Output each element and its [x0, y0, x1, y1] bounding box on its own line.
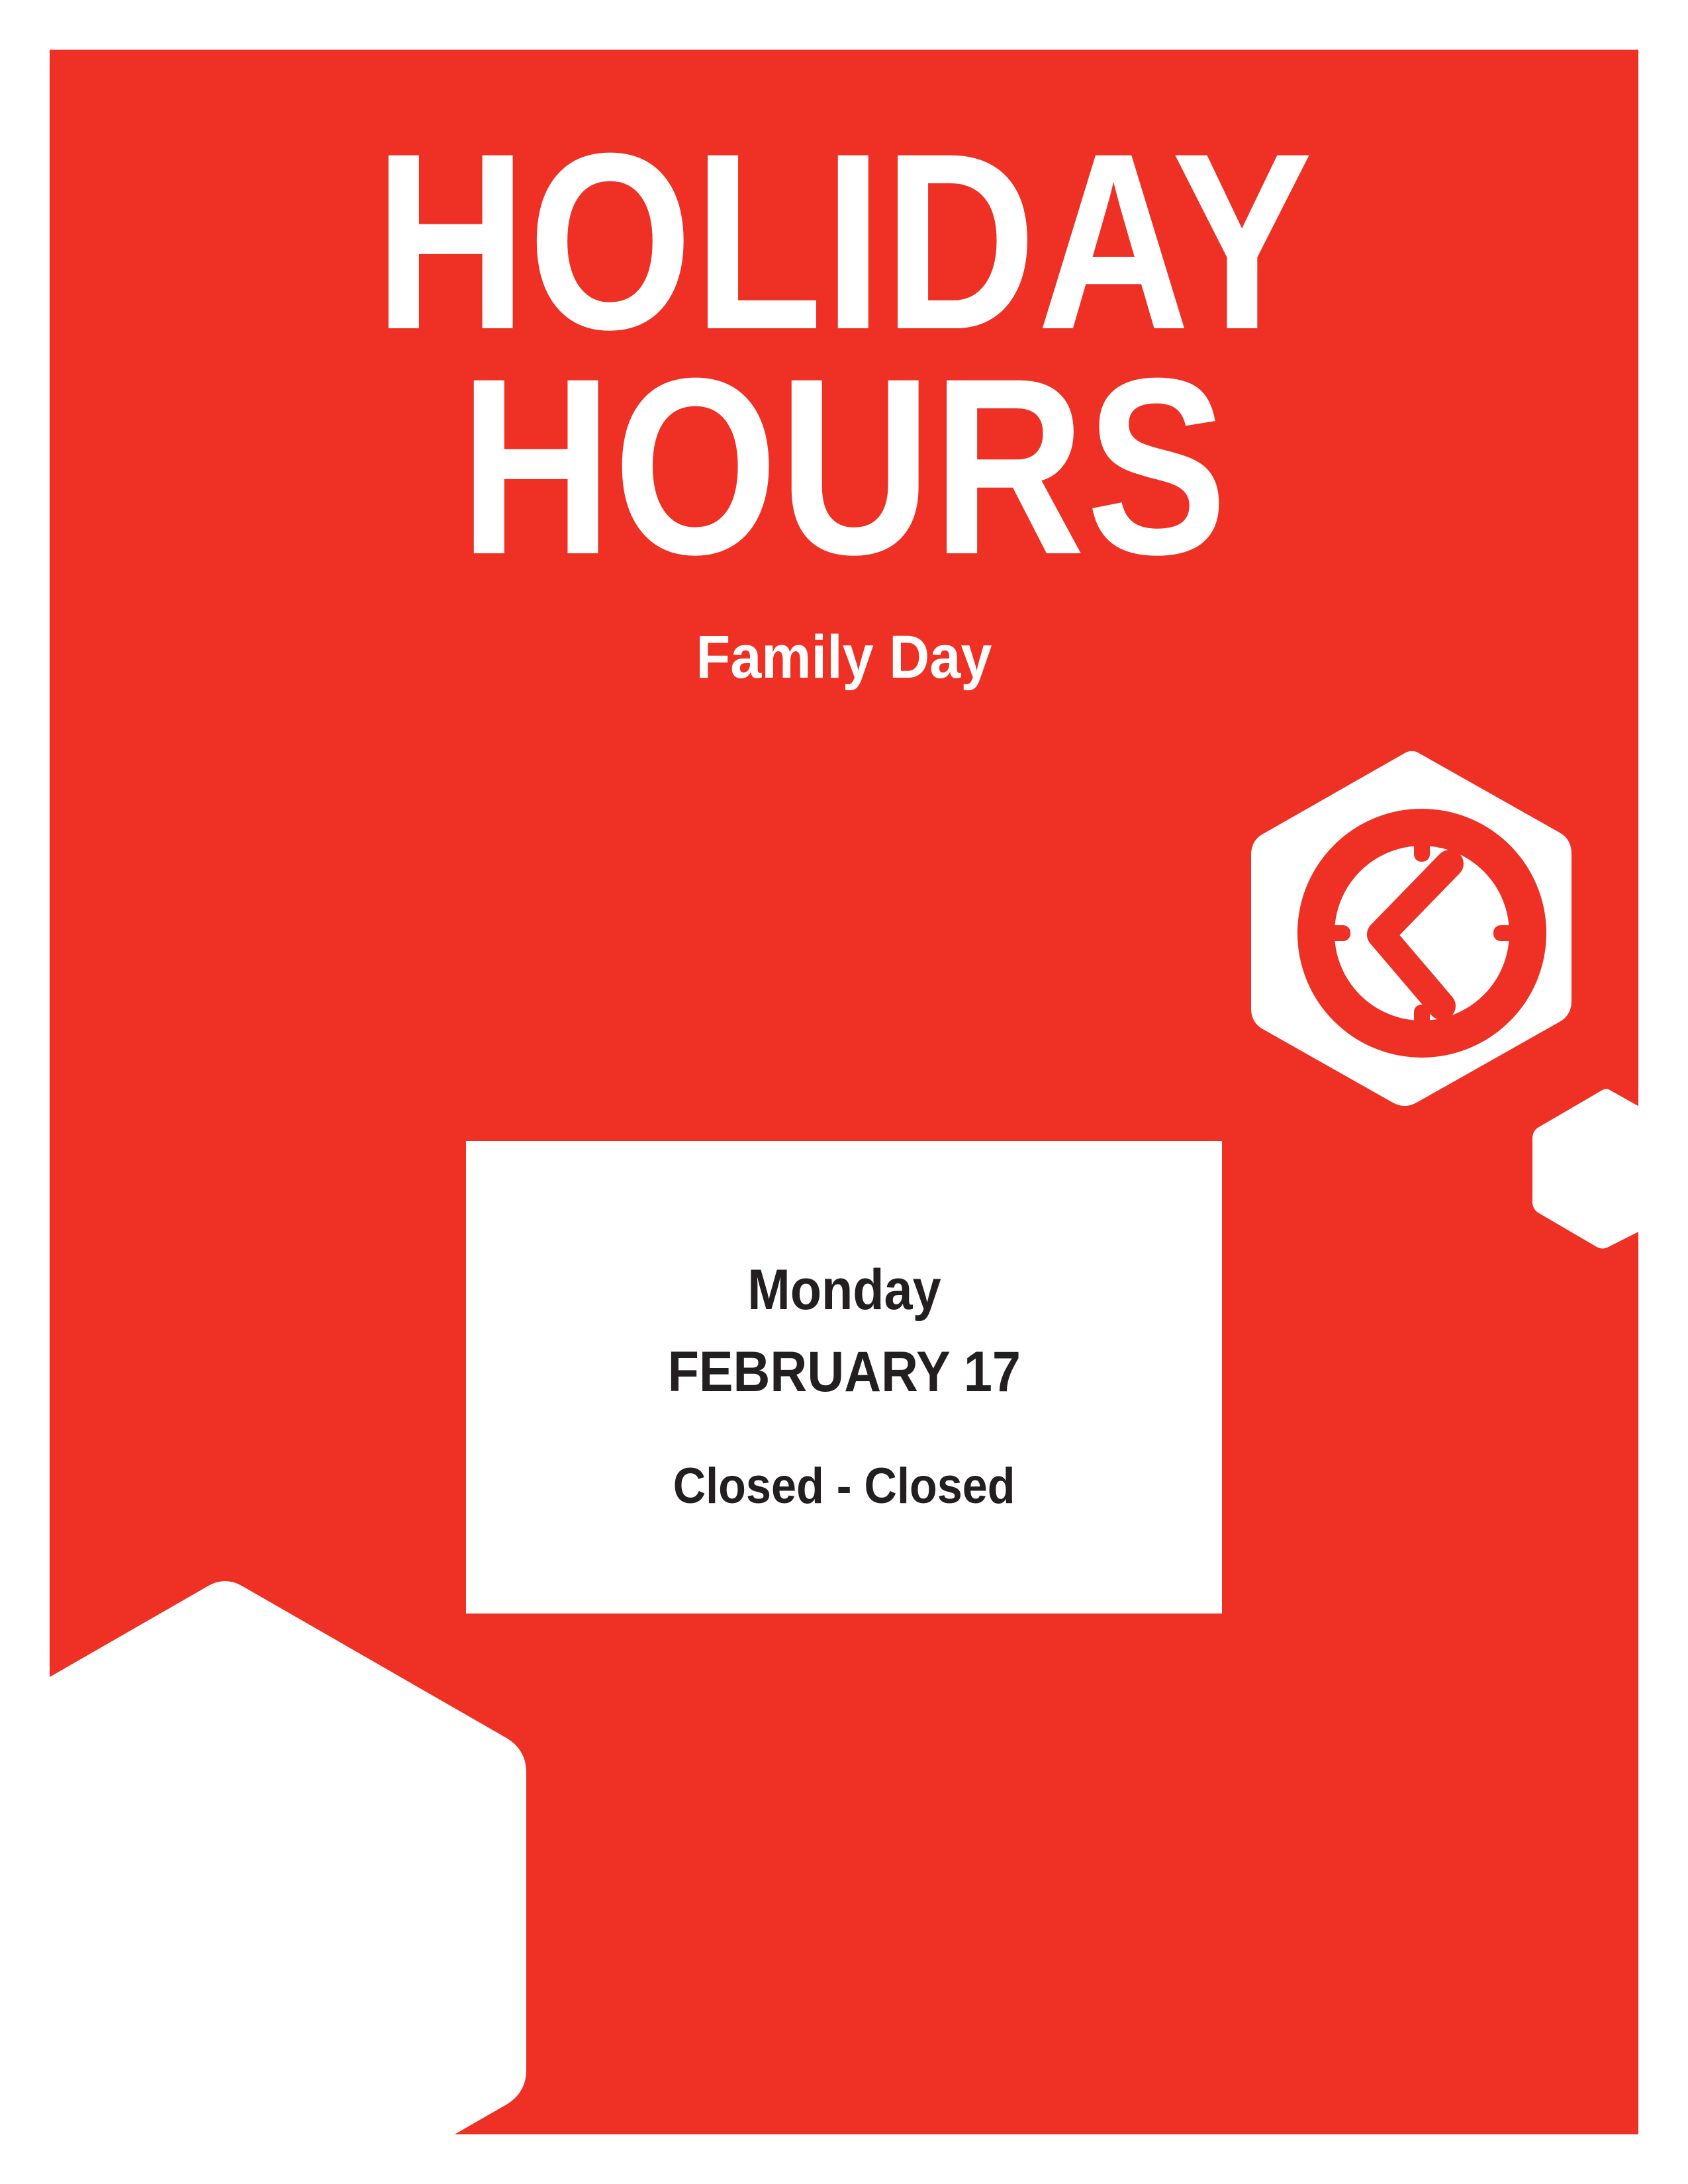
hexagon-accent-right	[1532, 1085, 1638, 1251]
page-title-line-2: HOURS	[177, 351, 1511, 582]
clock-badge	[1251, 741, 1582, 1112]
holiday-info-card: Monday FEBRUARY 17 Closed - Closed	[466, 1141, 1222, 1614]
red-background-panel: HOLIDAY HOURS Family Day	[50, 50, 1638, 2134]
page-title-line-1: HOLIDAY	[177, 126, 1511, 357]
clock-icon	[1251, 741, 1582, 1112]
poster-canvas: HOLIDAY HOURS Family Day	[0, 0, 1688, 2184]
hexagon-shape	[50, 1534, 526, 2134]
page-subtitle: Family Day	[113, 627, 1575, 688]
hexagon-shape	[1532, 1085, 1638, 1251]
card-date-label: FEBRUARY 17	[667, 1343, 1020, 1400]
card-day-label: Monday	[747, 1261, 941, 1318]
hexagon-accent-bottom-left	[50, 1534, 526, 2134]
card-hours-label: Closed - Closed	[673, 1461, 1015, 1512]
